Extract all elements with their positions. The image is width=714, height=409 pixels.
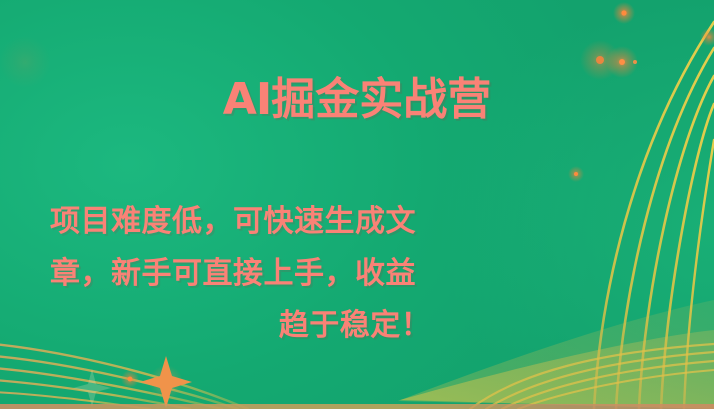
- description-line-3: 趋于稳定！: [48, 300, 604, 352]
- bottom-edge-strip: [0, 404, 714, 409]
- page-title-cjk: 掘金实战营: [271, 75, 491, 124]
- description-line-1: 项目难度低，可快速生成文: [48, 196, 604, 248]
- page-title-latin: AI: [223, 74, 271, 125]
- page-title: AI掘金实战营: [0, 78, 714, 122]
- poster-canvas: AI掘金实战营 项目难度低，可快速生成文 章，新手可直接上手，收益 趋于稳定！: [0, 0, 714, 409]
- text-layer: AI掘金实战营 项目难度低，可快速生成文 章，新手可直接上手，收益 趋于稳定！: [0, 0, 714, 409]
- description-block: 项目难度低，可快速生成文 章，新手可直接上手，收益 趋于稳定！: [48, 196, 604, 352]
- description-line-2: 章，新手可直接上手，收益: [48, 248, 604, 300]
